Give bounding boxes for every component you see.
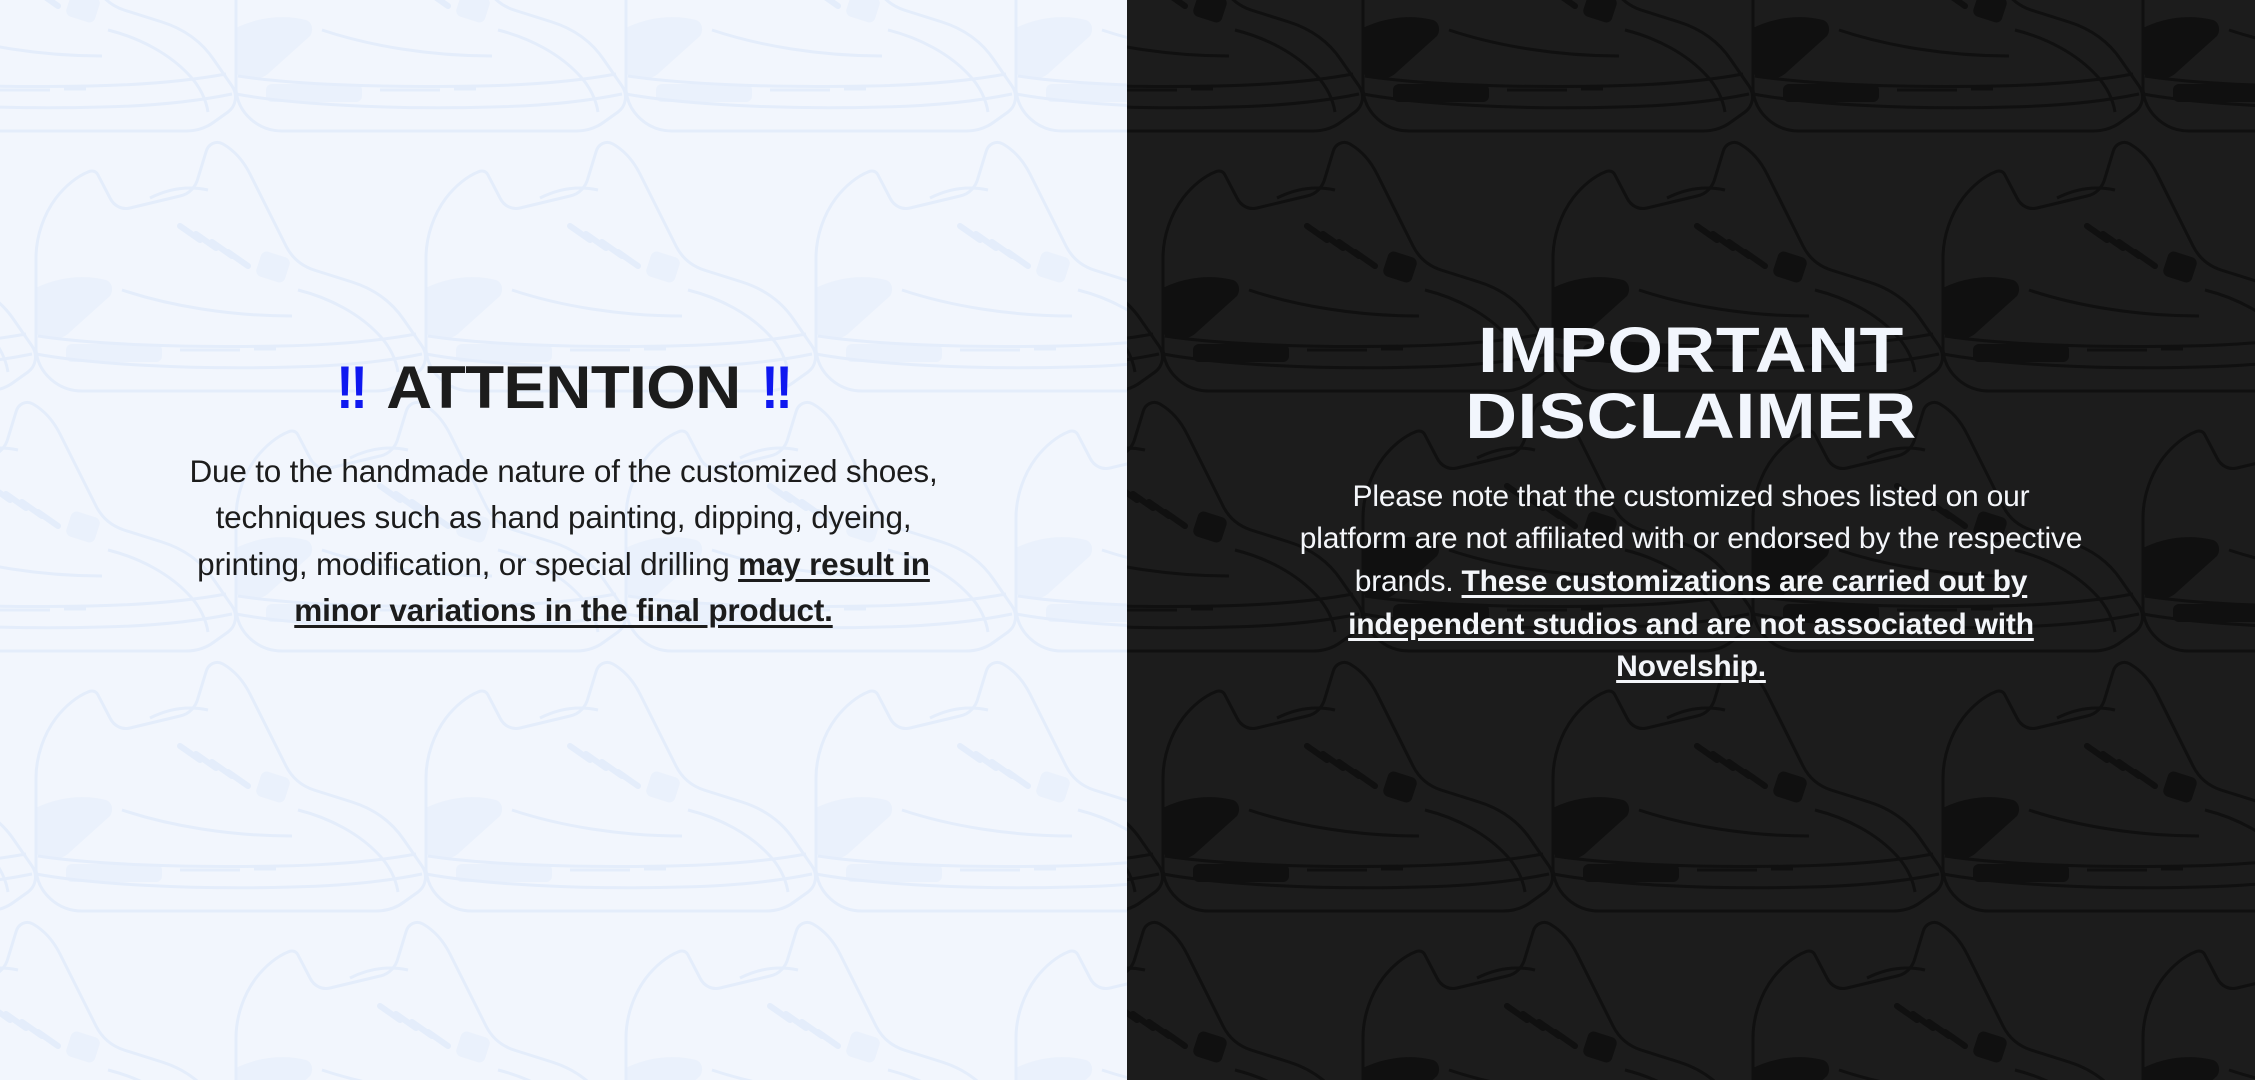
attention-content: ‼ATTENTION‼ Due to the handmade nature o…	[0, 0, 1127, 1080]
attention-panel: ‼ATTENTION‼ Due to the handmade nature o…	[0, 0, 1127, 1080]
disclaimer-panel: IMPORTANTDISCLAIMER Please note that the…	[1127, 0, 2255, 1080]
disclaimer-content: IMPORTANTDISCLAIMER Please note that the…	[1127, 0, 2255, 1080]
attention-headline: ‼ATTENTION‼	[333, 358, 794, 418]
disclaimer-headline-line-1: IMPORTANT	[1478, 314, 1904, 386]
disclaimer-headline-line-2: DISCLAIMER	[1465, 380, 1917, 452]
double-exclamation-right-icon: ‼	[761, 358, 791, 418]
attention-body: Due to the handmade nature of the custom…	[164, 418, 964, 633]
attention-headline-text: ATTENTION	[386, 354, 740, 421]
disclaimer-body: Please note that the customized shoes li…	[1296, 450, 2086, 689]
disclaimer-banner: ‼ATTENTION‼ Due to the handmade nature o…	[0, 0, 2255, 1080]
double-exclamation-left-icon: ‼	[336, 358, 366, 418]
disclaimer-headline: IMPORTANTDISCLAIMER	[1299, 318, 2083, 450]
